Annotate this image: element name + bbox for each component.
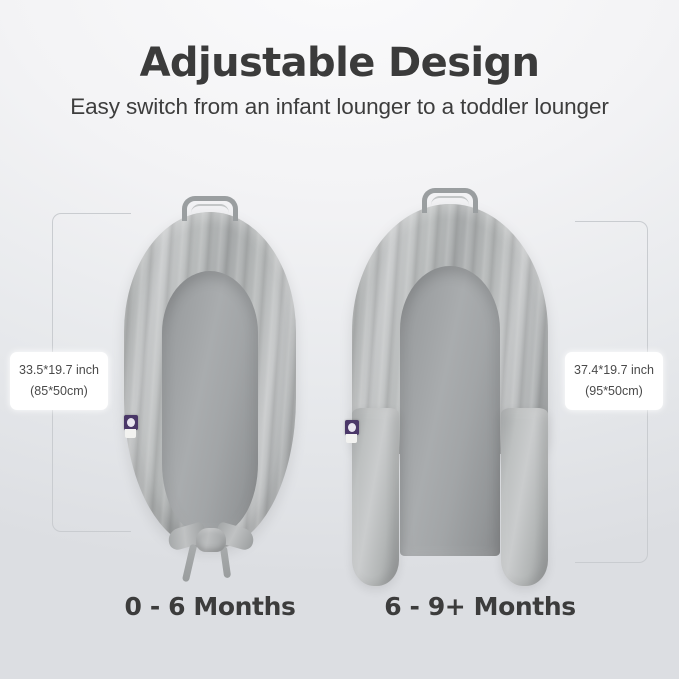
bumper-arm-right [501, 408, 548, 586]
tie-knot-icon [196, 528, 226, 552]
dimension-left-imperial: 33.5*19.7 inch [19, 363, 99, 377]
caption-toddler-age-range: 6 - 9+ Months [330, 592, 630, 621]
dimension-right-metric: (95*50cm) [574, 381, 654, 402]
inner-mattress-left [162, 271, 258, 533]
bumper-arm-left [352, 408, 399, 586]
infographic-page: Adjustable Design Easy switch from an in… [0, 0, 679, 679]
dimension-right-imperial: 37.4*19.7 inch [574, 363, 654, 377]
page-title: Adjustable Design [0, 42, 679, 84]
brand-tag-icon-left [124, 415, 138, 430]
page-subtitle: Easy switch from an infant lounger to a … [0, 95, 679, 120]
dimension-label-right: 37.4*19.7 inch (95*50cm) [565, 352, 663, 410]
dimension-label-left: 33.5*19.7 inch (85*50cm) [10, 352, 108, 410]
inner-mattress-right [400, 266, 500, 556]
product-infant-lounger [118, 196, 302, 586]
dimension-left-metric: (85*50cm) [19, 381, 99, 402]
product-toddler-lounger [348, 188, 552, 598]
carry-handle-icon [422, 188, 478, 213]
caption-infant-age-range: 0 - 6 Months [60, 592, 360, 621]
header: Adjustable Design Easy switch from an in… [0, 0, 679, 120]
brand-tag-icon-right [345, 420, 359, 435]
carry-handle-icon [182, 196, 238, 221]
tie-ribbon-right [220, 546, 231, 579]
tie-ribbon-left [182, 544, 197, 583]
